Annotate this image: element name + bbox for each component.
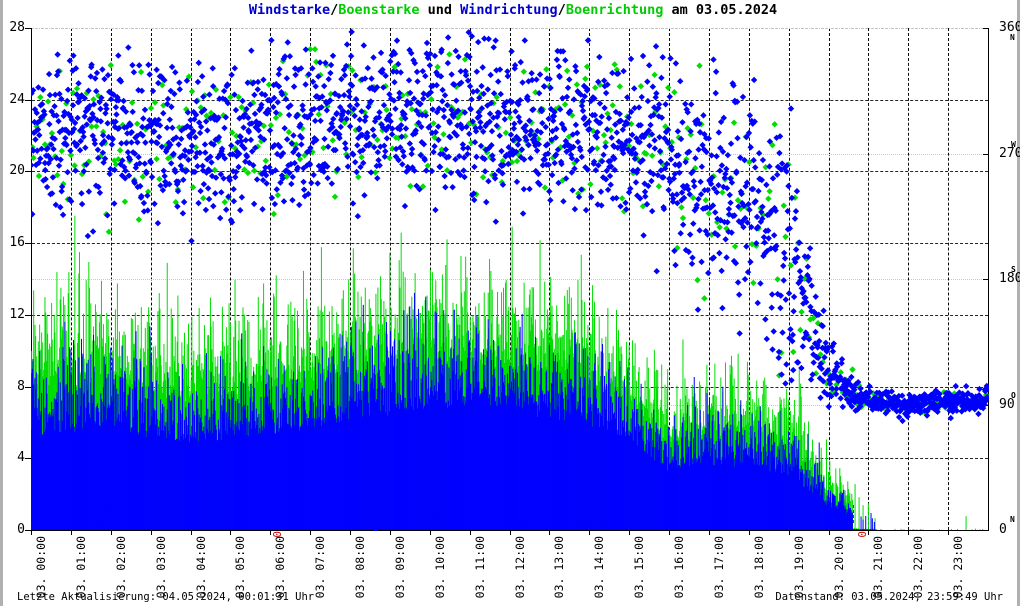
x-axis-tick-label: 03. 11:00	[475, 536, 487, 598]
y2-axis-compass-label: N	[1010, 34, 1015, 42]
horizontal-gridline	[32, 315, 988, 316]
x-axis-tick	[749, 531, 750, 535]
x-axis-tick	[71, 531, 72, 535]
horizontal-gridline	[32, 243, 988, 244]
x-axis-tick-label: 03. 21:00	[873, 536, 885, 598]
sun-marker-line	[853, 505, 854, 523]
y-axis-tick-label: 16	[3, 236, 25, 249]
y2-axis-tick	[983, 28, 989, 29]
horizontal-gridline	[32, 458, 988, 459]
x-axis-tick	[549, 531, 550, 535]
x-axis-tick-label: 03. 08:00	[355, 536, 367, 598]
y-axis-tick-label: 24	[3, 93, 25, 106]
y-axis-tick	[25, 100, 31, 101]
x-axis-tick	[589, 531, 590, 535]
x-axis-tick-label: 03. 00:00	[36, 536, 48, 598]
x-axis-tick-label: 03. 10:00	[435, 536, 447, 598]
title-separator-1: /	[330, 2, 338, 18]
x-axis-tick-label: 03. 18:00	[754, 536, 766, 598]
x-axis-tick	[390, 531, 391, 535]
y2-axis-tick	[983, 154, 989, 155]
y2-axis-compass-label: W	[1011, 141, 1016, 149]
title-part-windrichtung: Windrichtung	[460, 2, 558, 18]
chart-frame: Windstarke/Boenstarke und Windrichtung/B…	[0, 0, 1020, 606]
y2-axis-compass-label: S	[1011, 266, 1016, 274]
y-axis-tick-label: 4	[3, 451, 25, 464]
y-axis-tick-label: 0	[3, 523, 25, 536]
x-axis-tick	[111, 531, 112, 535]
horizontal-gridline	[32, 28, 988, 29]
x-axis-tick	[430, 531, 431, 535]
y-axis-tick-label: 28	[3, 21, 25, 34]
y2-axis-compass-label: O	[1011, 392, 1016, 400]
x-axis-tick	[350, 531, 351, 535]
x-axis-tick-label: 03. 20:00	[834, 536, 846, 598]
x-axis-tick-label: 03. 04:00	[196, 536, 208, 598]
x-axis-tick-label: 03. 05:00	[235, 536, 247, 598]
y2-axis-tick	[983, 279, 989, 280]
x-axis-tick	[230, 531, 231, 535]
y-axis-tick	[25, 387, 31, 388]
title-separator-2: /	[558, 2, 566, 18]
y-axis-tick-label: 8	[3, 380, 25, 393]
y-axis-tick-label: 20	[3, 164, 25, 177]
x-axis-tick-label: 03. 02:00	[116, 536, 128, 598]
y-axis-tick	[25, 315, 31, 316]
chart-title: Windstarke/Boenstarke und Windrichtung/B…	[3, 2, 1020, 18]
x-axis-tick-label: 03. 12:00	[515, 536, 527, 598]
x-axis-tick-label: 03. 06:00	[275, 536, 287, 598]
sun-marker-label: 0	[857, 531, 868, 538]
sun-marker-label: 0	[272, 531, 283, 538]
y-axis-tick	[25, 458, 31, 459]
title-date: am 03.05.2024	[663, 2, 777, 18]
title-part-boenstarke: Boenstarke	[338, 2, 419, 18]
x-axis-tick	[470, 531, 471, 535]
x-axis-tick-label: 03. 23:00	[953, 536, 965, 598]
y-axis-tick	[25, 243, 31, 244]
x-axis-tick	[789, 531, 790, 535]
x-axis-tick-label: 03. 16:00	[674, 536, 686, 598]
title-conjunction: und	[420, 2, 461, 18]
horizontal-gridline	[32, 171, 988, 172]
horizontal-gridline-direction	[32, 154, 988, 155]
y2-axis-tick-label: 180	[999, 272, 1020, 285]
x-axis-tick-label: 03. 13:00	[554, 536, 566, 598]
x-axis-tick	[669, 531, 670, 535]
x-axis-tick	[948, 531, 949, 535]
x-axis-tick	[191, 531, 192, 535]
data-timestamp-text: Datenstand: 03.05.2024, 23:59:49 Uhr	[775, 591, 1003, 603]
sun-marker-line	[268, 505, 269, 523]
y2-axis-tick	[983, 405, 989, 406]
x-axis-tick-label: 03. 22:00	[913, 536, 925, 598]
x-axis-tick-label: 03. 03:00	[156, 536, 168, 598]
x-axis-tick	[31, 531, 32, 535]
x-axis-tick	[709, 531, 710, 535]
last-update-text: Letzte Aktualisierung: 04.05.2024, 00:01…	[17, 591, 314, 603]
y-axis-tick	[25, 171, 31, 172]
x-axis-tick	[908, 531, 909, 535]
x-axis-tick	[510, 531, 511, 535]
x-axis-tick-label: 03. 09:00	[395, 536, 407, 598]
title-part-windstarke: Windstarke	[249, 2, 330, 18]
x-axis-tick-label: 03. 07:00	[315, 536, 327, 598]
horizontal-gridline	[32, 100, 988, 101]
x-axis-tick	[151, 531, 152, 535]
y-axis-tick	[25, 28, 31, 29]
title-part-boenrichtung: Boenrichtung	[566, 2, 664, 18]
x-axis-tick-label: 03. 01:00	[76, 536, 88, 598]
y2-axis-tick-label: 270	[999, 147, 1020, 160]
x-axis-tick	[310, 531, 311, 535]
horizontal-gridline	[32, 387, 988, 388]
x-axis-tick	[629, 531, 630, 535]
y2-axis-tick-label: 0	[999, 523, 1007, 536]
y2-axis-compass-label: N	[1010, 516, 1015, 524]
y2-axis-tick	[983, 530, 989, 531]
horizontal-gridline-direction	[32, 405, 988, 406]
x-axis-tick-label: 03. 19:00	[794, 536, 806, 598]
y-axis-tick-label: 12	[3, 308, 25, 321]
horizontal-gridline-direction	[32, 279, 988, 280]
x-axis-tick-label: 03. 14:00	[594, 536, 606, 598]
x-axis-tick-label: 03. 17:00	[714, 536, 726, 598]
x-axis-tick-label: 03. 15:00	[634, 536, 646, 598]
x-axis-tick	[829, 531, 830, 535]
